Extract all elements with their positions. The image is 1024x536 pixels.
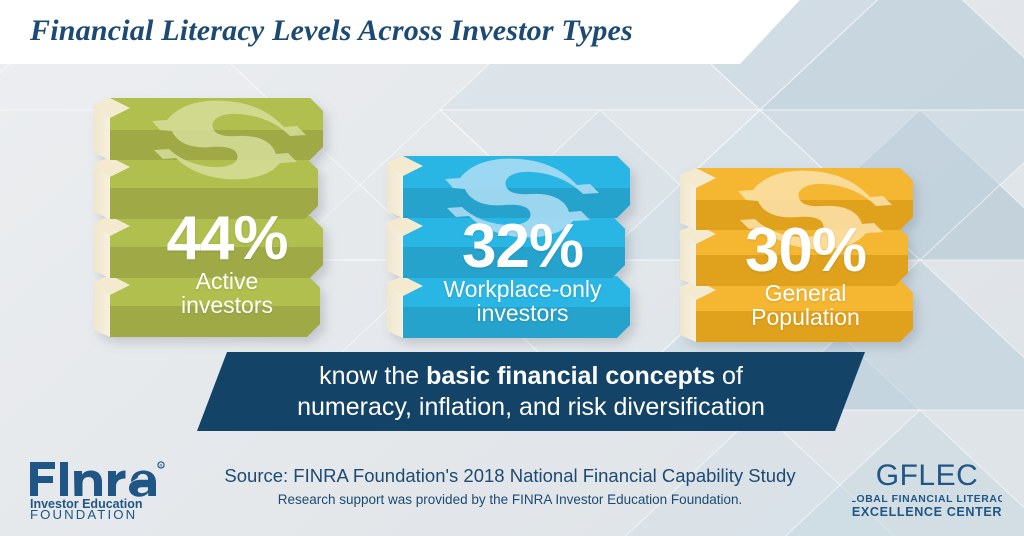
banner-line-2: numeracy, inflation, and risk diversific… [297, 392, 765, 423]
blue-book-stack-body [387, 156, 630, 338]
key-message-banner: know the basic financial concepts of num… [197, 352, 865, 431]
orange-book-stack-body [680, 168, 913, 342]
green-book-stack-body [94, 98, 323, 337]
gflec-wordmark: GFLEC [876, 459, 979, 492]
source-main-text: Source: FINRA Foundation's 2018 National… [180, 464, 840, 488]
banner-line1-pre: know the [319, 362, 426, 390]
gflec-logo-line2: EXCELLENCE CENTER [852, 505, 1002, 519]
gflec-logo-line1: GLOBAL FINANCIAL LITERACY [852, 494, 1002, 505]
finra-wordmark [30, 462, 156, 497]
stack-blue-workplace-only-investors [385, 148, 665, 348]
finra-logo: R Investor Education FOUNDATION [28, 458, 168, 525]
gflec-logo: GFLEC GLOBAL FINANCIAL LITERACY EXCELLEN… [852, 458, 1002, 525]
banner-line-1: know the basic financial concepts of [319, 361, 743, 392]
stack-green-active-investors [92, 92, 367, 347]
source-block: Source: FINRA Foundation's 2018 National… [180, 464, 840, 510]
source-sub-text: Research support was provided by the FIN… [180, 491, 840, 510]
registered-trademark-glyph: R [159, 463, 162, 468]
stack-orange-general-population [678, 160, 938, 350]
page-title: Financial Literacy Levels Across Investo… [30, 14, 633, 48]
finra-logo-line2: FOUNDATION [30, 507, 137, 520]
banner-text: know the basic financial concepts of num… [197, 352, 865, 431]
banner-line1-bold: basic financial concepts [426, 362, 715, 390]
banner-line1-post: of [715, 362, 743, 390]
